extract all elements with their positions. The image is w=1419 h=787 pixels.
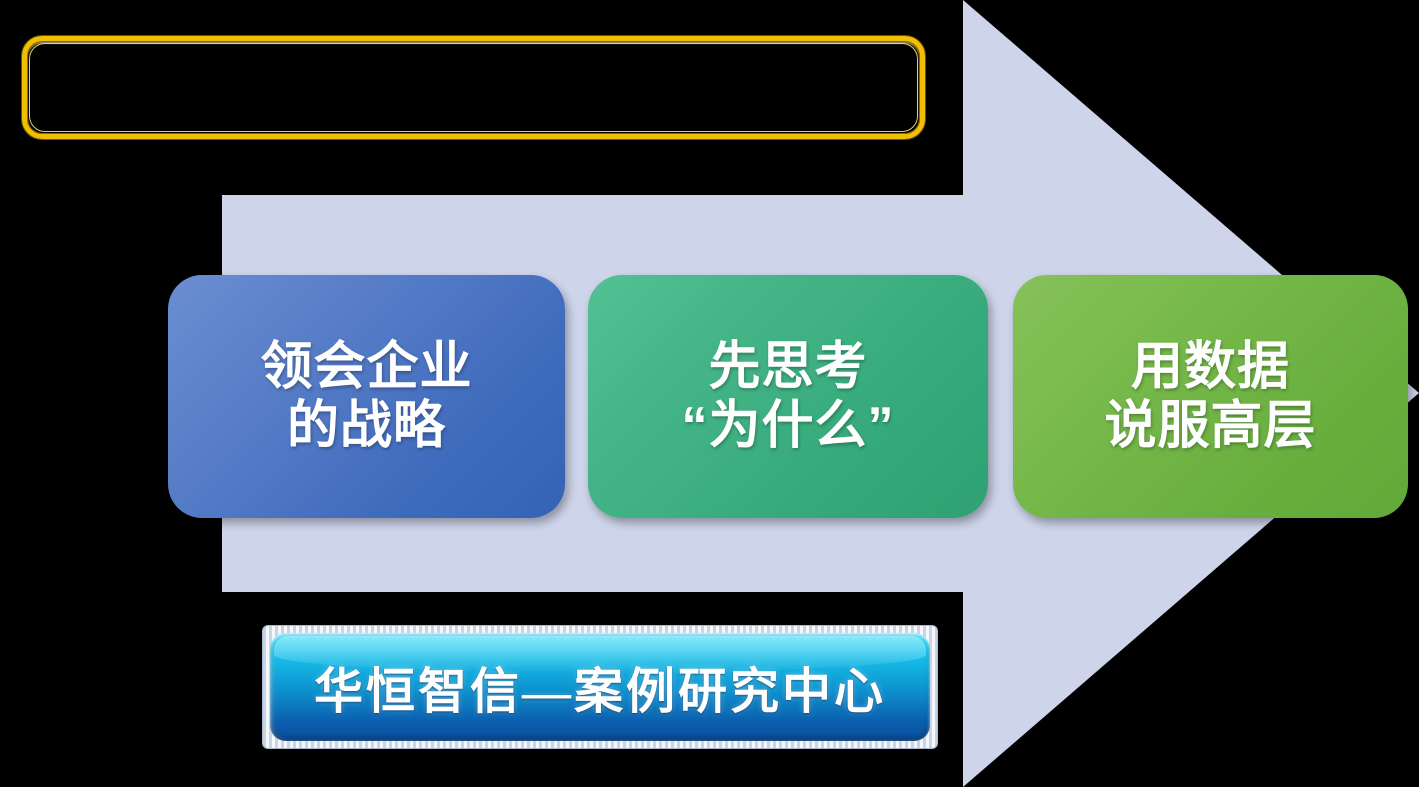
page-title [27,41,920,134]
step-box-label: 用数据 说服高层 [1094,338,1326,454]
slide-canvas: 领会企业 的战略 先思考 “为什么” 用数据 说服高层 华恒智信—案例研究中心 [0,0,1419,787]
step-box-strategy[interactable]: 领会企业 的战略 [168,275,565,518]
step-box-why[interactable]: 先思考 “为什么” [588,275,988,518]
brand-banner: 华恒智信—案例研究中心 [262,625,938,749]
step-box-data[interactable]: 用数据 说服高层 [1013,275,1408,518]
step-box-label: 领会企业 的战略 [250,338,482,454]
title-frame [22,36,925,139]
brand-banner-text: 华恒智信—案例研究中心 [314,652,886,723]
step-box-label: 先思考 “为什么” [671,338,904,454]
brand-banner-pill: 华恒智信—案例研究中心 [270,633,930,741]
